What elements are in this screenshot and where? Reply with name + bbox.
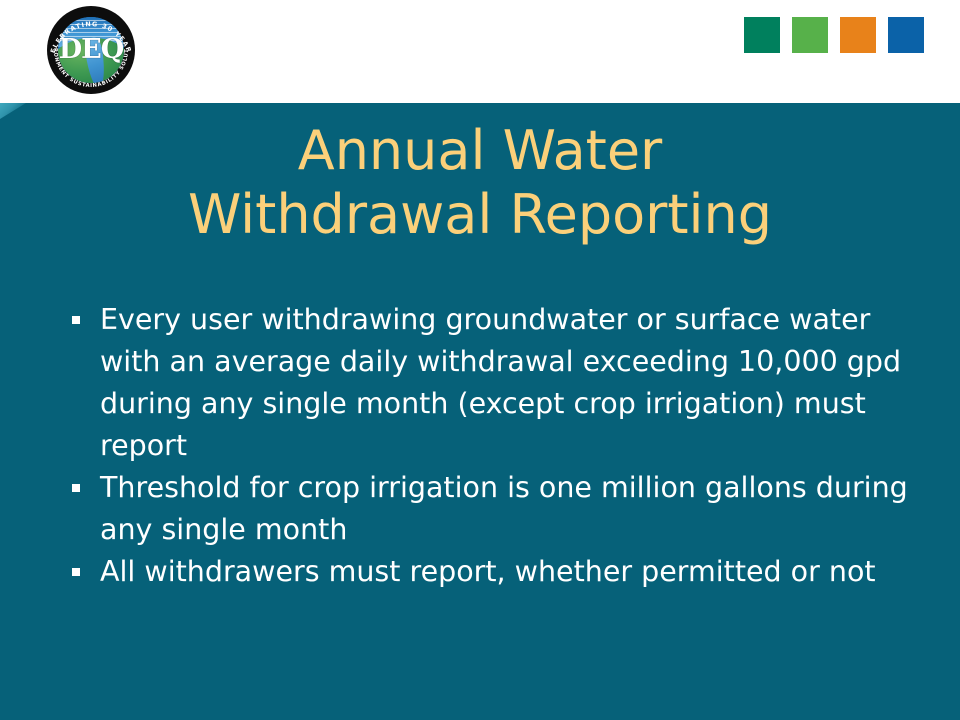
logo-deq-wordmark: DEQ [47, 36, 135, 63]
swatch-blue [888, 17, 924, 53]
slide-header-band: DEQ CELEBRATING 30 YEARS ENVIRONMENT SUS… [0, 0, 960, 103]
presentation-slide: DEQ CELEBRATING 30 YEARS ENVIRONMENT SUS… [0, 0, 960, 720]
corner-accent-shape [0, 103, 26, 119]
bullet-text: Every user withdrawing groundwater or su… [100, 299, 936, 467]
slide-title-line-1: Annual Water [60, 119, 900, 183]
swatch-teal-green [744, 17, 780, 53]
square-bullet-icon [72, 568, 80, 576]
list-item: Threshold for crop irrigation is one mil… [68, 467, 936, 551]
list-item: Every user withdrawing groundwater or su… [68, 299, 936, 467]
bullet-list: Every user withdrawing groundwater or su… [68, 299, 936, 593]
swatch-light-green [792, 17, 828, 53]
slide-title-line-2: Withdrawal Reporting [60, 183, 900, 247]
square-bullet-icon [72, 316, 80, 324]
bullet-text: All withdrawers must report, whether per… [100, 551, 936, 593]
square-bullet-icon [72, 484, 80, 492]
swatch-orange [840, 17, 876, 53]
slide-body: Annual Water Withdrawal Reporting Every … [0, 103, 960, 720]
list-item: All withdrawers must report, whether per… [68, 551, 936, 593]
slide-title: Annual Water Withdrawal Reporting [60, 119, 900, 247]
bullet-text: Threshold for crop irrigation is one mil… [100, 467, 936, 551]
deq-logo: DEQ CELEBRATING 30 YEARS ENVIRONMENT SUS… [47, 6, 135, 94]
